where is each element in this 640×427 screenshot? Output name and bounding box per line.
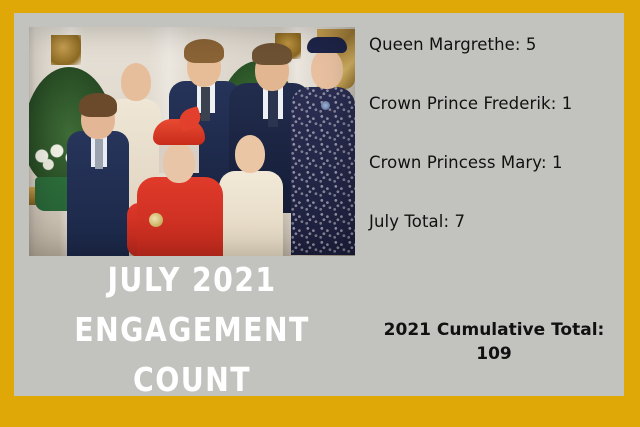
- stat-queen-margrethe: Queen Margrethe: 5: [369, 35, 631, 54]
- stat-july-total: July Total: 7: [369, 212, 631, 231]
- infographic-card: Queen Margrethe: 5 Crown Prince Frederik…: [0, 0, 640, 427]
- page-title: July 2021 Engagement Count: [54, 263, 329, 396]
- title-line-2: Engagement: [54, 313, 329, 346]
- stat-crown-prince-frederik: Crown Prince Frederik: 1: [369, 94, 631, 113]
- cumulative-total-block: 2021 Cumulative Total: 109: [359, 318, 629, 366]
- cumulative-total-label: 2021 Cumulative Total:: [359, 318, 629, 342]
- content-panel: Queen Margrethe: 5 Crown Prince Frederik…: [14, 13, 624, 396]
- title-line-1: July 2021: [54, 263, 329, 296]
- stat-crown-princess-mary: Crown Princess Mary: 1: [369, 153, 631, 172]
- title-line-3: Count: [54, 363, 329, 396]
- royal-family-photo: [29, 27, 355, 256]
- engagement-stats-list: Queen Margrethe: 5 Crown Prince Frederik…: [369, 35, 631, 231]
- photo-vignette: [29, 27, 355, 256]
- cumulative-total-value: 109: [359, 342, 629, 366]
